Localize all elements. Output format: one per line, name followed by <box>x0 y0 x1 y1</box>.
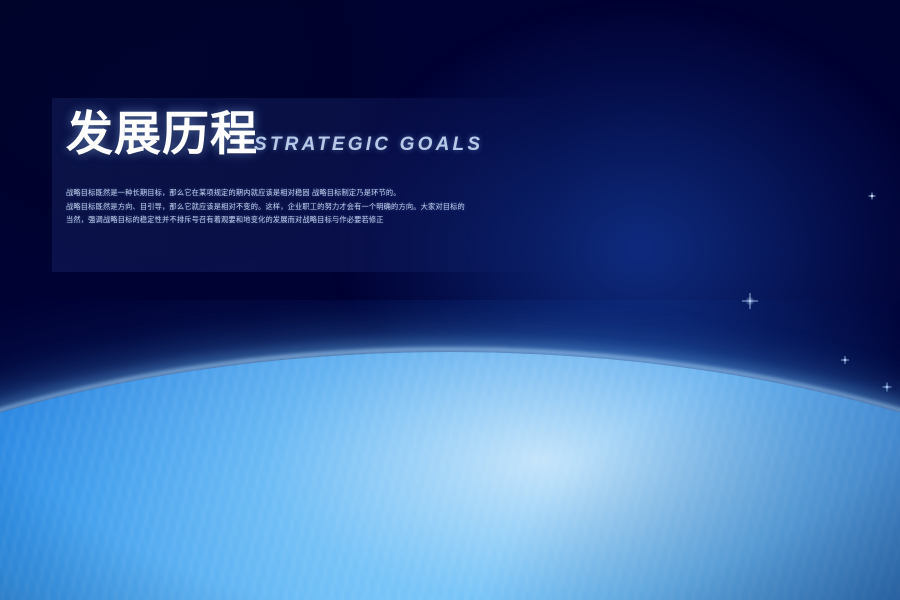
page-title: 发展历程 <box>66 112 258 159</box>
body-line: 战略目标既然是一种长期目标，那么它在某项规定的期内就应该是相对稳固 战略目标制定… <box>66 186 536 200</box>
page-subtitle: STRATEGIC GOALS <box>254 134 483 159</box>
headline-block: 发展历程 STRATEGIC GOALS <box>66 112 626 159</box>
banner-stage: 发展历程 STRATEGIC GOALS 战略目标既然是一种长期目标，那么它在某… <box>0 0 900 600</box>
body-copy-block: 战略目标既然是一种长期目标，那么它在某项规定的期内就应该是相对稳固 战略目标制定… <box>66 186 536 227</box>
scene-vignette <box>0 0 900 600</box>
title-row: 发展历程 STRATEGIC GOALS <box>66 112 626 159</box>
body-line: 当然，强调战略目标的稳定性并不排斥号召有着观要和地变化的发展而对战略目标与作必要… <box>66 213 536 227</box>
body-line: 战略目标既然是方向、目引导，那么它就应该是相对不变的。这样，企业职工的努力才会有… <box>66 200 536 214</box>
